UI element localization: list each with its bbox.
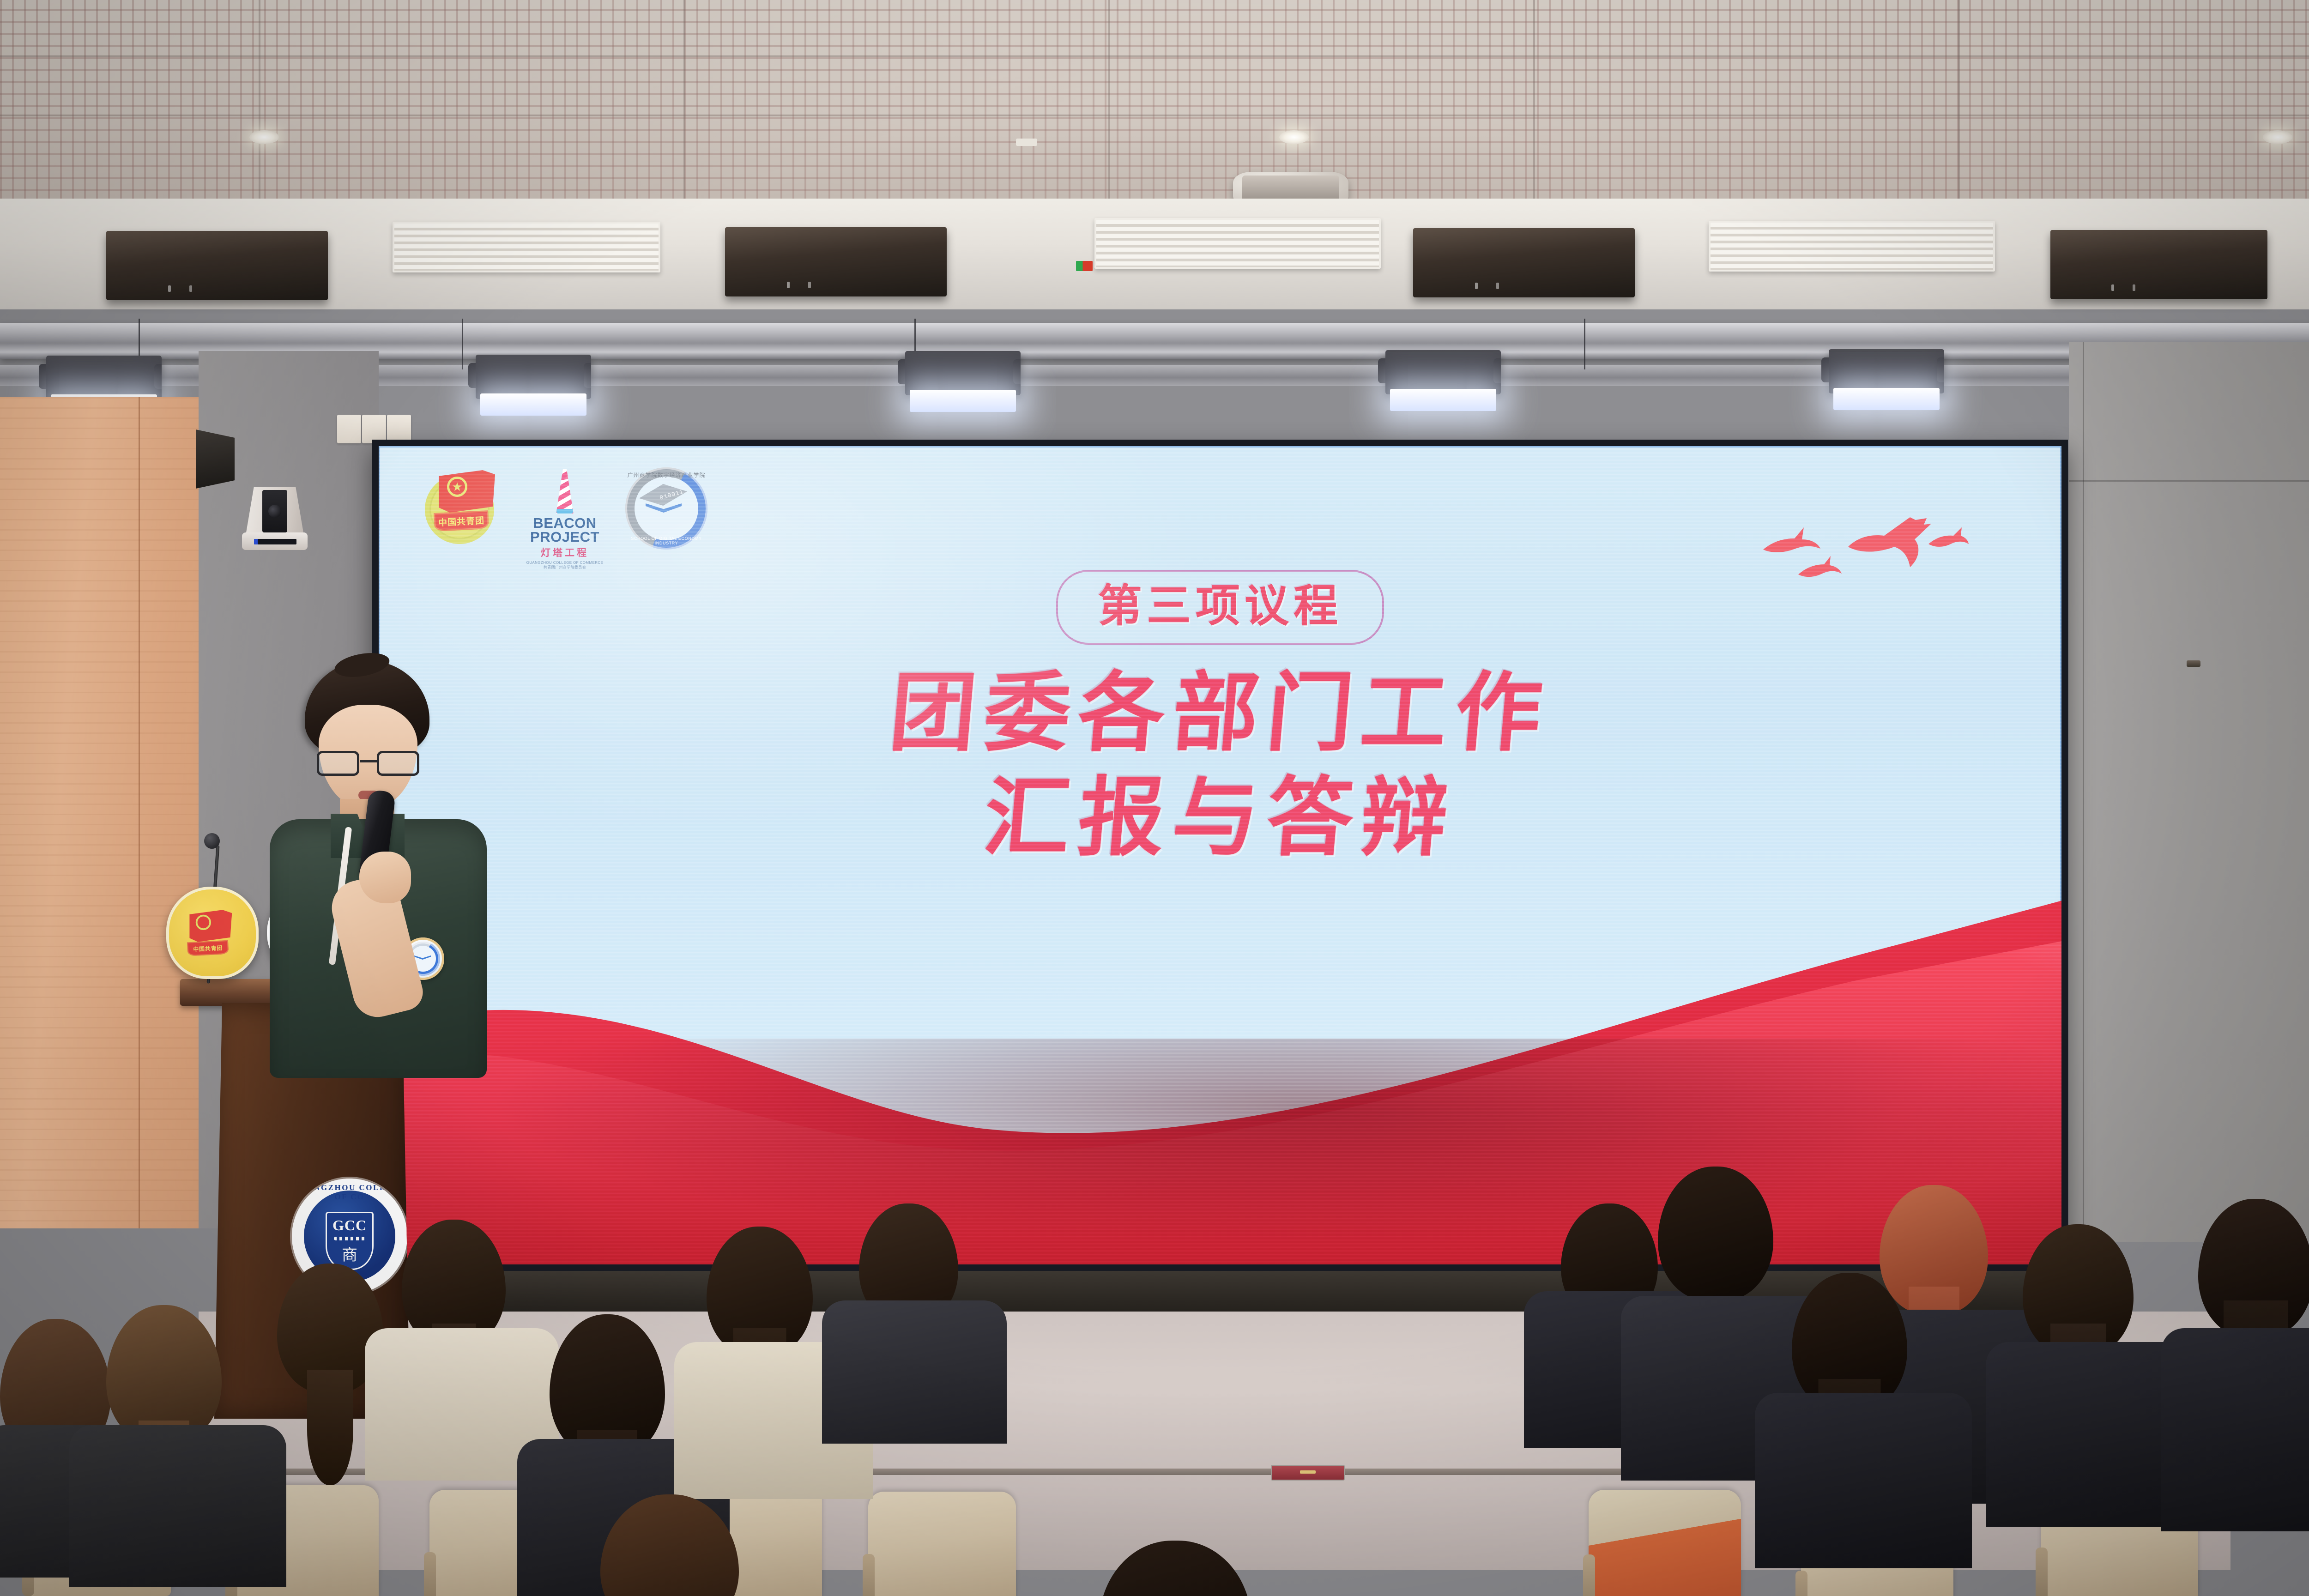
speaker-presenter (249, 660, 508, 1122)
beacon-en-line1: BEACON (526, 516, 604, 530)
hanging-speaker (106, 231, 328, 300)
hvac-vent (1709, 221, 1995, 272)
audience-body (1755, 1393, 1972, 1568)
beacon-subtitle: GUANGZHOU COLLEGE OF COMMERCE 共青团广州商学院委员… (526, 561, 604, 570)
audience-body (2161, 1328, 2309, 1531)
audience-member (2023, 1224, 2134, 1356)
school-en-arc: SCHOOL OF DIGITAL ECONOMY INDUSTRY (625, 536, 707, 545)
wall-power-outlet[interactable] (362, 415, 386, 443)
led-display-screen[interactable]: ★ 中国共青团 BEACON PROJECT 灯塔工程 GUANGZHOU CO… (379, 446, 2061, 1264)
audience-member (402, 1220, 506, 1347)
led-display-frame: ★ 中国共青团 BEACON PROJECT 灯塔工程 GUANGZHOU CO… (372, 440, 2068, 1271)
audience-member (707, 1227, 813, 1356)
plaque-cyl-banner-text: 中国共青团 (187, 940, 229, 956)
stage-spotlight (905, 351, 1021, 395)
flying-doves-icon (1757, 506, 1969, 585)
audience-member (550, 1314, 665, 1457)
audience-body (69, 1425, 286, 1587)
communist-youth-league-logo-icon: ★ 中国共青团 (423, 467, 504, 545)
speaker-hand (359, 852, 411, 903)
ceiling-downlight (2263, 130, 2292, 144)
eyeglasses-icon (315, 751, 421, 776)
slide-title-line2: 汇报与答辩 (379, 773, 2061, 862)
hanging-speaker (2050, 230, 2267, 299)
audience-member (1880, 1185, 1988, 1314)
audience-area (0, 1162, 2309, 1596)
stage-spotlight (1829, 349, 1944, 393)
audience-body (822, 1300, 1007, 1444)
school-cn-arc: 广州商学院数字经济产业学院 (625, 471, 707, 479)
slide-title: 团委各部门工作 汇报与答辩 (379, 668, 2061, 862)
ceiling-sensor (1016, 139, 1037, 146)
stage-spotlight (1385, 350, 1501, 394)
plaque-communist-youth-league: 中国共青团 (166, 887, 259, 979)
right-wall-gray-panel (2069, 342, 2309, 1242)
auditorium-scene: ★ 中国共青团 BEACON PROJECT 灯塔工程 GUANGZHOU CO… (0, 0, 2309, 1596)
hvac-vent (1094, 218, 1381, 269)
audience-member (106, 1305, 222, 1444)
ceiling-acoustic-panels (0, 0, 2309, 203)
star-icon: ★ (447, 477, 467, 497)
agenda-badge: 第三项议程 (1056, 570, 1384, 645)
wall-speaker (196, 429, 235, 489)
stage-spotlight (46, 356, 162, 400)
microphone-head-icon (204, 833, 220, 849)
school-digital-economy-logo-icon: 010011 广州商学院数字经济产业学院 SCHOOL OF DIGITAL E… (625, 467, 707, 550)
stage-spotlight (476, 355, 591, 399)
wall-power-outlet[interactable] (337, 415, 361, 443)
ceiling-downlight (1279, 130, 1309, 144)
ceiling-downlight (249, 130, 279, 144)
hvac-vent (393, 222, 660, 272)
ptz-camera-icon (240, 487, 309, 550)
cyl-banner-text: 中国共青团 (434, 510, 489, 532)
agenda-badge-text: 第三项议程 (1098, 584, 1342, 628)
audience-member (2198, 1199, 2309, 1337)
wall-power-outlet[interactable] (387, 415, 411, 443)
beacon-en-line2: PROJECT (526, 530, 604, 544)
projector-mount (1242, 175, 1339, 201)
screen-logo-row: ★ 中国共青团 BEACON PROJECT 灯塔工程 GUANGZHOU CO… (423, 467, 707, 550)
auditorium-seat[interactable] (1589, 1490, 1741, 1596)
status-indicator-light (1076, 261, 1093, 271)
audience-member (1099, 1541, 1251, 1596)
slide-title-line1: 团委各部门工作 (379, 668, 2061, 757)
left-wall-wood-panel (0, 397, 199, 1228)
hanging-speaker (1413, 228, 1635, 297)
hanging-speaker (725, 227, 947, 296)
beacon-cn-label: 灯塔工程 (526, 545, 604, 559)
beacon-project-logo-icon: BEACON PROJECT 灯塔工程 GUANGZHOU COLLEGE OF… (526, 467, 604, 550)
door-handle[interactable] (2187, 660, 2200, 667)
auditorium-seat[interactable] (868, 1492, 1016, 1596)
audience-member (1658, 1167, 1773, 1300)
